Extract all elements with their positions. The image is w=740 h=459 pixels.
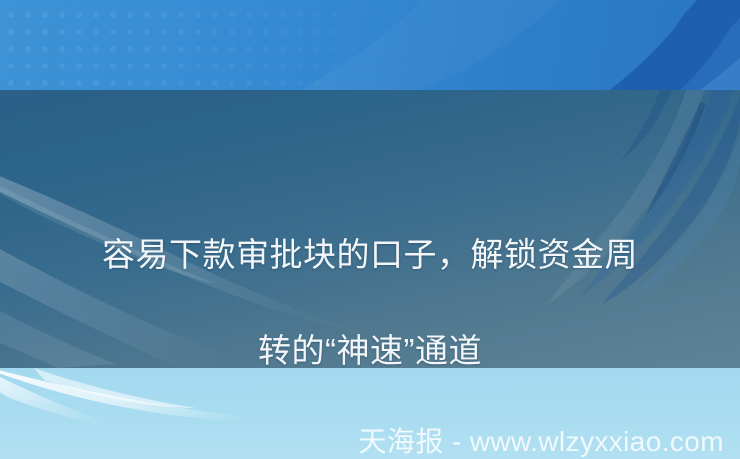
poster-title-line-1: 容易下款审批块的口子，解锁资金周 [0,231,740,279]
top-band-shapes [0,0,740,90]
poster-canvas: 容易下款审批块的口子，解锁资金周 转的“神速”通道 天海报 - www.wlzy… [0,0,740,459]
top-blue-band [0,0,740,90]
poster-title-line-2: 转的“神速”通道 [0,327,740,375]
poster-title: 容易下款审批块的口子，解锁资金周 转的“神速”通道 [0,183,740,423]
site-watermark: 天海报 - www.wlzyxxiao.com [0,425,724,459]
